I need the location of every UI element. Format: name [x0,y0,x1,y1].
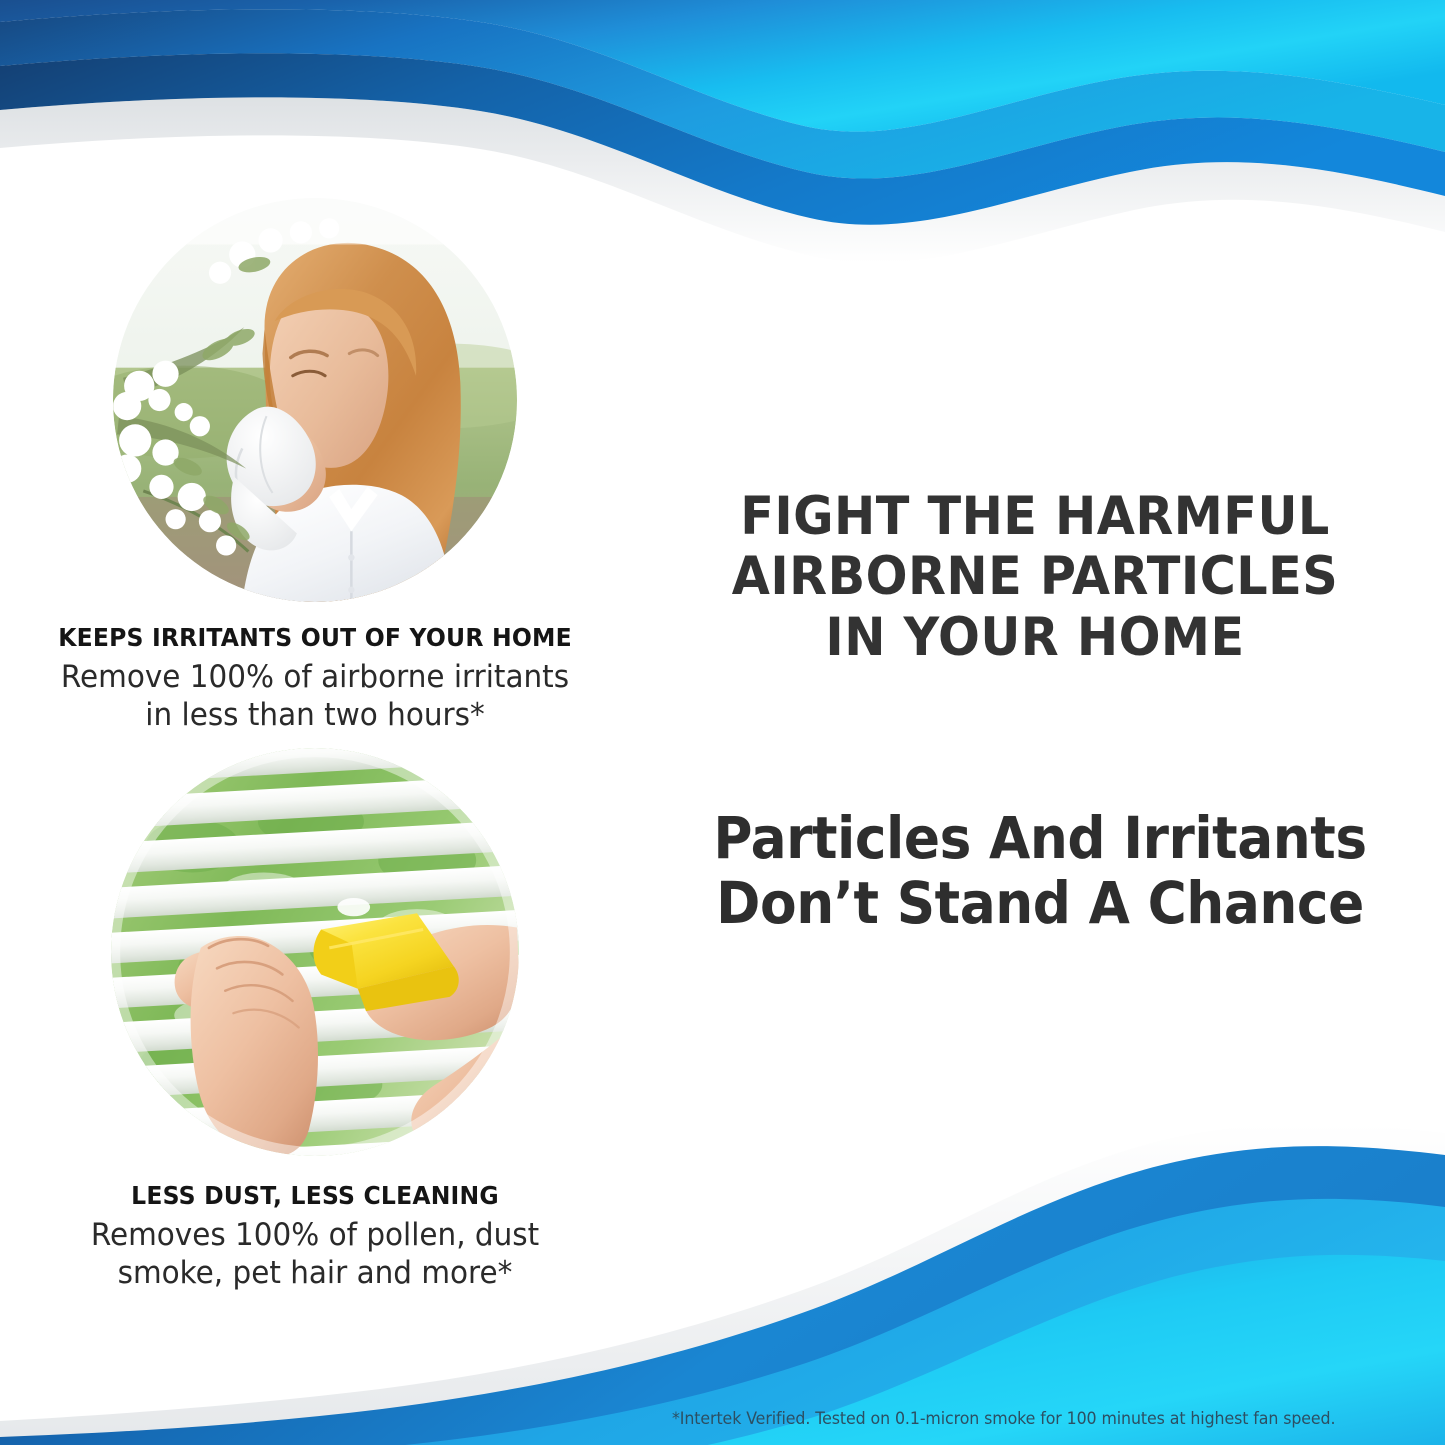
infographic-canvas: KEEPS IRRITANTS OUT OF YOUR HOME Remove … [0,0,1445,1445]
feature-description-line: Removes 100% of pollen, dust [16,1217,615,1255]
feature-description: Removes 100% of pollen, dust smoke, pet … [16,1217,615,1293]
feature-title: KEEPS IRRITANTS OUT OF YOUR HOME [19,624,611,653]
feature-title: LESS DUST, LESS CLEANING [19,1182,611,1211]
headlines-column: FIGHT THE HARMFUL AIRBORNE PARTICLES IN … [640,0,1445,1445]
feature-item: KEEPS IRRITANTS OUT OF YOUR HOME Remove … [0,198,630,734]
feature-item: LESS DUST, LESS CLEANING Removes 100% of… [0,748,630,1292]
footnote-disclaimer: *Intertek Verified. Tested on 0.1-micron… [672,1409,1388,1429]
feature-description-line: in less than two hours* [16,697,615,735]
primary-headline-line: AIRBORNE PARTICLES [668,547,1403,607]
secondary-headline-line: Don’t Stand A Chance [672,871,1408,936]
features-column: KEEPS IRRITANTS OUT OF YOUR HOME Remove … [0,0,630,1445]
secondary-headline: Particles And Irritants Don’t Stand A Ch… [672,806,1408,936]
feature-description-line: smoke, pet hair and more* [16,1255,615,1293]
woman-sneezing-into-tissue-photo [113,198,517,602]
primary-headline-line: IN YOUR HOME [668,608,1403,668]
primary-headline: FIGHT THE HARMFUL AIRBORNE PARTICLES IN … [668,487,1403,668]
secondary-headline-line: Particles And Irritants [672,806,1408,871]
primary-headline-line: FIGHT THE HARMFUL [668,487,1403,547]
hands-cleaning-window-blinds-photo [111,748,519,1156]
feature-description-line: Remove 100% of airborne irritants [16,659,615,697]
feature-description: Remove 100% of airborne irritants in les… [16,659,615,735]
